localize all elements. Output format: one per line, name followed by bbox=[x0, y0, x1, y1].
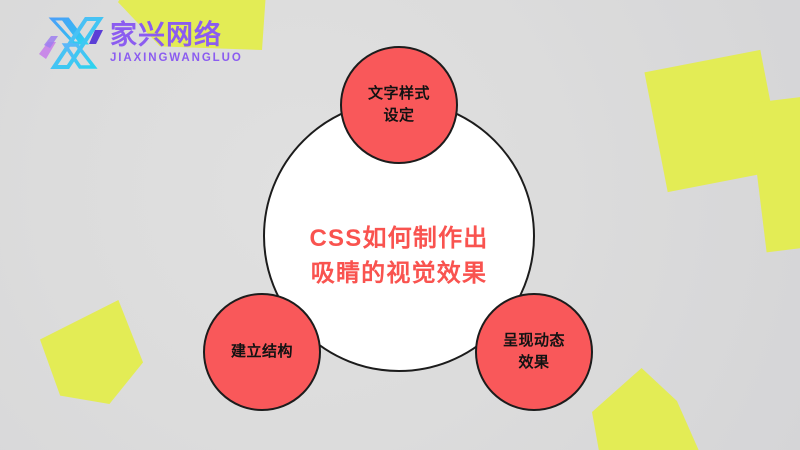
node-top-line-2: 设定 bbox=[368, 105, 430, 128]
node-left-line-1: 建立结构 bbox=[231, 341, 293, 364]
diagram-node-bottom-right[interactable]: 呈现动态 效果 bbox=[475, 293, 593, 411]
node-top-line-1: 文字样式 bbox=[368, 83, 430, 106]
diagram-node-top[interactable]: 文字样式 设定 bbox=[340, 46, 458, 164]
slide-canvas: 家兴网络 JIAXINGWANGLUO CSS如何制作出 吸睛的视觉效果 文字样… bbox=[0, 0, 800, 450]
hub-and-spoke-diagram: CSS如何制作出 吸睛的视觉效果 文字样式 设定 建立结构 呈现动态 效果 bbox=[0, 0, 800, 450]
hub-title-line-1: CSS如何制作出 bbox=[310, 222, 489, 257]
node-left-label: 建立结构 bbox=[231, 341, 293, 364]
node-right-label: 呈现动态 效果 bbox=[503, 330, 565, 375]
node-right-line-1: 呈现动态 bbox=[503, 330, 565, 353]
hub-title: CSS如何制作出 吸睛的视觉效果 bbox=[310, 222, 489, 292]
node-right-line-2: 效果 bbox=[503, 352, 565, 375]
hub-title-line-2: 吸睛的视觉效果 bbox=[310, 257, 489, 292]
node-top-label: 文字样式 设定 bbox=[368, 83, 430, 128]
diagram-node-bottom-left[interactable]: 建立结构 bbox=[203, 293, 321, 411]
